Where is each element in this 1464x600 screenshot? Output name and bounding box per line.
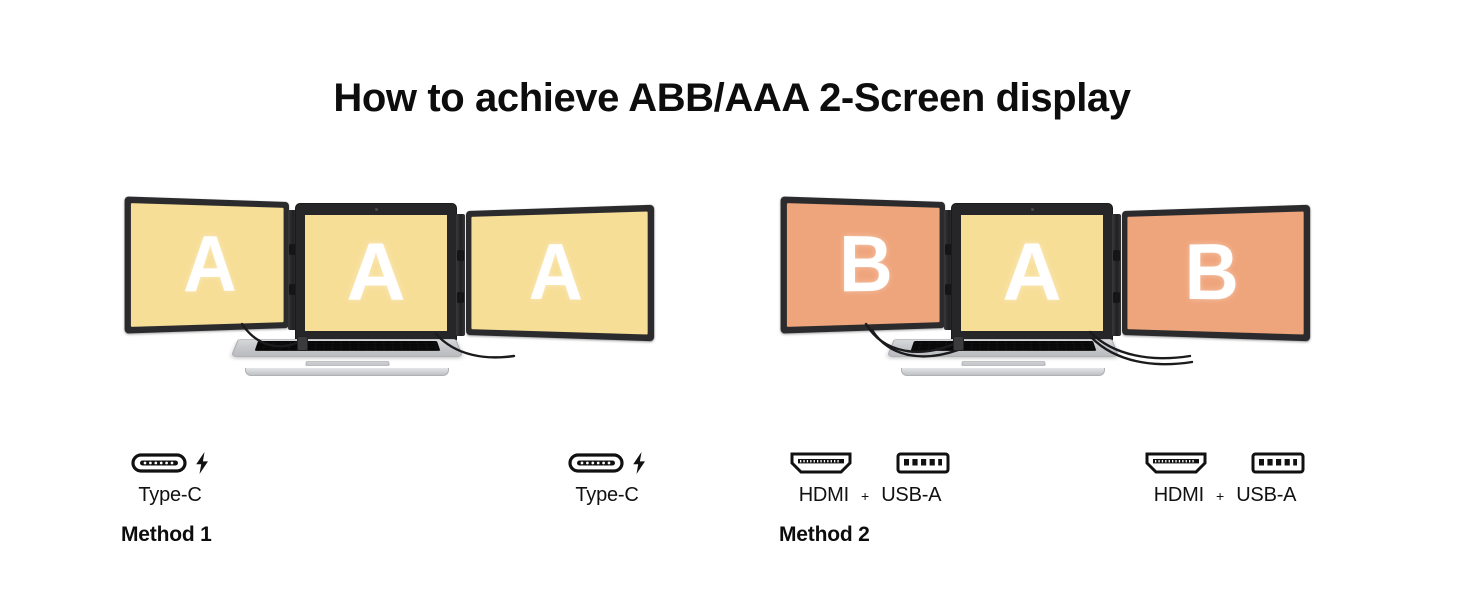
method-2-right-connector: HDMI + USB-A [1115,448,1335,507]
plus-separator: + [861,488,869,504]
connector-label: Type-C [138,484,201,507]
usb-a-icon [895,450,951,476]
method-1-right-screen: A [471,211,647,334]
usb-a-icon [1250,450,1306,476]
keyboard [910,341,1095,351]
method-1-label: Method 1 [121,523,212,547]
connector-label: Type-C [575,484,638,507]
connector-label: HDMI [799,484,849,507]
connector-label: HDMI [1154,484,1204,507]
screen-letter: A [1002,232,1061,314]
method-2-laptop-lid: A [951,203,1113,341]
method-1-left-monitor: A [125,196,289,333]
screen-letter: A [183,225,237,305]
method-2-center-screen: A [961,215,1103,331]
connector-label: USB-A [881,484,941,507]
method-2-left-connector: HDMI + USB-A [760,448,980,507]
screen-letter: A [529,233,583,314]
hdmi-icon [1144,450,1208,476]
usb-c-icon [568,451,624,475]
method-1-left-connector: Type-C [100,448,240,507]
method-2-right-screen: B [1127,211,1303,334]
method-1-laptop-base [238,339,456,371]
method-1-left-plug [297,336,308,351]
plus-separator: + [1216,488,1224,504]
thunderbolt-icon [194,451,210,475]
webcam-icon [375,208,378,211]
connector-label: USB-A [1236,484,1296,507]
method-2-left-monitor: B [781,196,945,333]
thunderbolt-icon [631,451,647,475]
method-2-left-plug [953,336,964,351]
page-title: How to achieve ABB/AAA 2-Screen display [0,76,1464,121]
usb-c-icon [131,451,187,475]
method-2-laptop-base [894,339,1112,371]
screen-letter: B [1185,233,1239,314]
method-1-center-screen: A [305,215,447,331]
method-1-right-hinge [456,214,465,336]
method-2-left-screen: B [787,203,940,327]
method-2-right-monitor: B [1122,205,1310,342]
method-2-label: Method 2 [779,523,870,547]
screen-letter: B [839,225,893,305]
screen-letter: A [346,232,405,314]
trackpad [305,361,389,366]
hdmi-icon [789,450,853,476]
trackpad [961,361,1045,366]
keyboard [254,341,439,351]
method-1-right-monitor: A [466,205,654,342]
method-1-left-screen: A [131,203,284,327]
method-1-laptop-lid: A [295,203,457,341]
method-2-right-hinge [1112,214,1121,336]
method-1-right-connector: Type-C [537,448,677,507]
webcam-icon [1031,208,1034,211]
